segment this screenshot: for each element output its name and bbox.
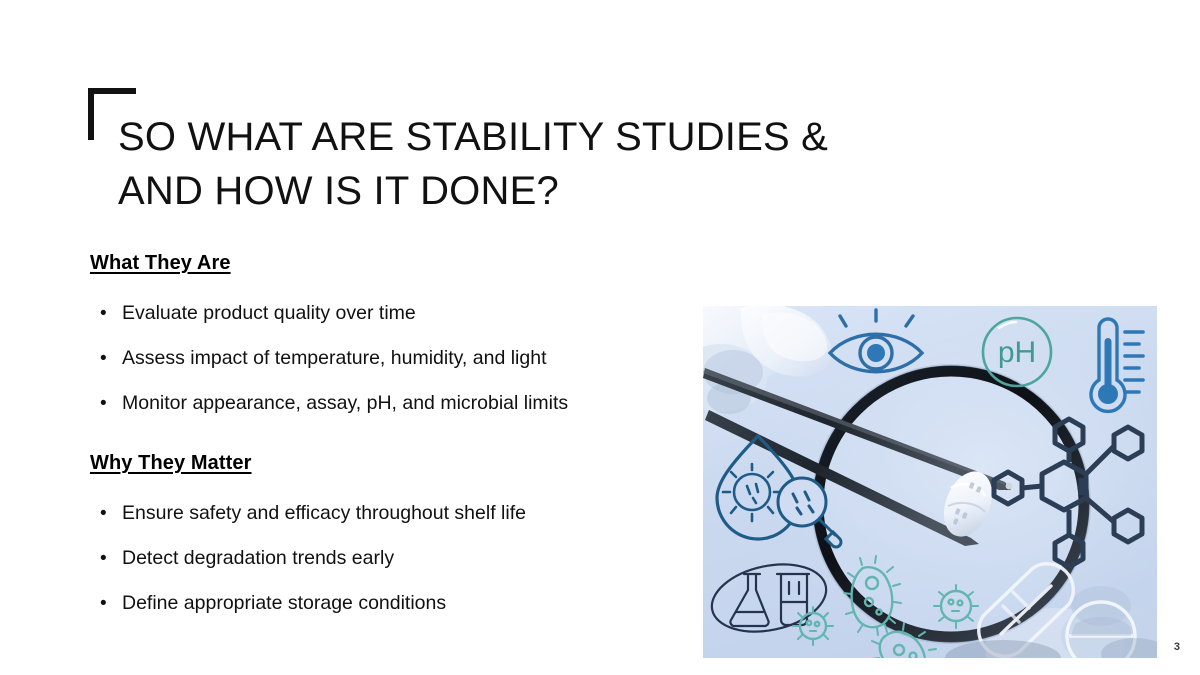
bullet-glyph: • (100, 291, 107, 336)
bullet-list-what-they-are: • Evaluate product quality over time • A… (90, 291, 690, 426)
list-item: • Assess impact of temperature, humidity… (90, 336, 690, 381)
bullet-glyph: • (100, 336, 107, 381)
stability-testing-image: pH (703, 306, 1157, 658)
list-item: • Detect degradation trends early (90, 536, 690, 581)
bullet-list-why-they-matter: • Ensure safety and efficacy throughout … (90, 491, 690, 626)
list-item-label: Ensure safety and efficacy throughout sh… (122, 502, 526, 524)
page-title: SO WHAT ARE STABILITY STUDIES & AND HOW … (118, 110, 998, 218)
ph-label: pH (998, 336, 1036, 369)
list-item-label: Evaluate product quality over time (122, 302, 416, 324)
bullet-glyph: • (100, 381, 107, 426)
content-column: What They Are • Evaluate product quality… (90, 252, 690, 626)
section-heading-why-they-matter: Why They Matter (90, 452, 690, 475)
bullet-glyph: • (100, 581, 107, 626)
section-heading-what-they-are: What They Are (90, 252, 690, 275)
list-item: • Ensure safety and efficacy throughout … (90, 491, 690, 536)
list-item-label: Detect degradation trends early (122, 547, 394, 569)
list-item: • Monitor appearance, assay, pH, and mic… (90, 381, 690, 426)
bullet-glyph: • (100, 536, 107, 581)
list-item-label: Monitor appearance, assay, pH, and micro… (122, 392, 568, 414)
list-item-label: Assess impact of temperature, humidity, … (122, 347, 547, 369)
list-item-label: Define appropriate storage conditions (122, 592, 446, 614)
list-item: • Define appropriate storage conditions (90, 581, 690, 626)
bullet-glyph: • (100, 491, 107, 536)
slide-number: 3 (1174, 641, 1180, 653)
list-item: • Evaluate product quality over time (90, 291, 690, 336)
